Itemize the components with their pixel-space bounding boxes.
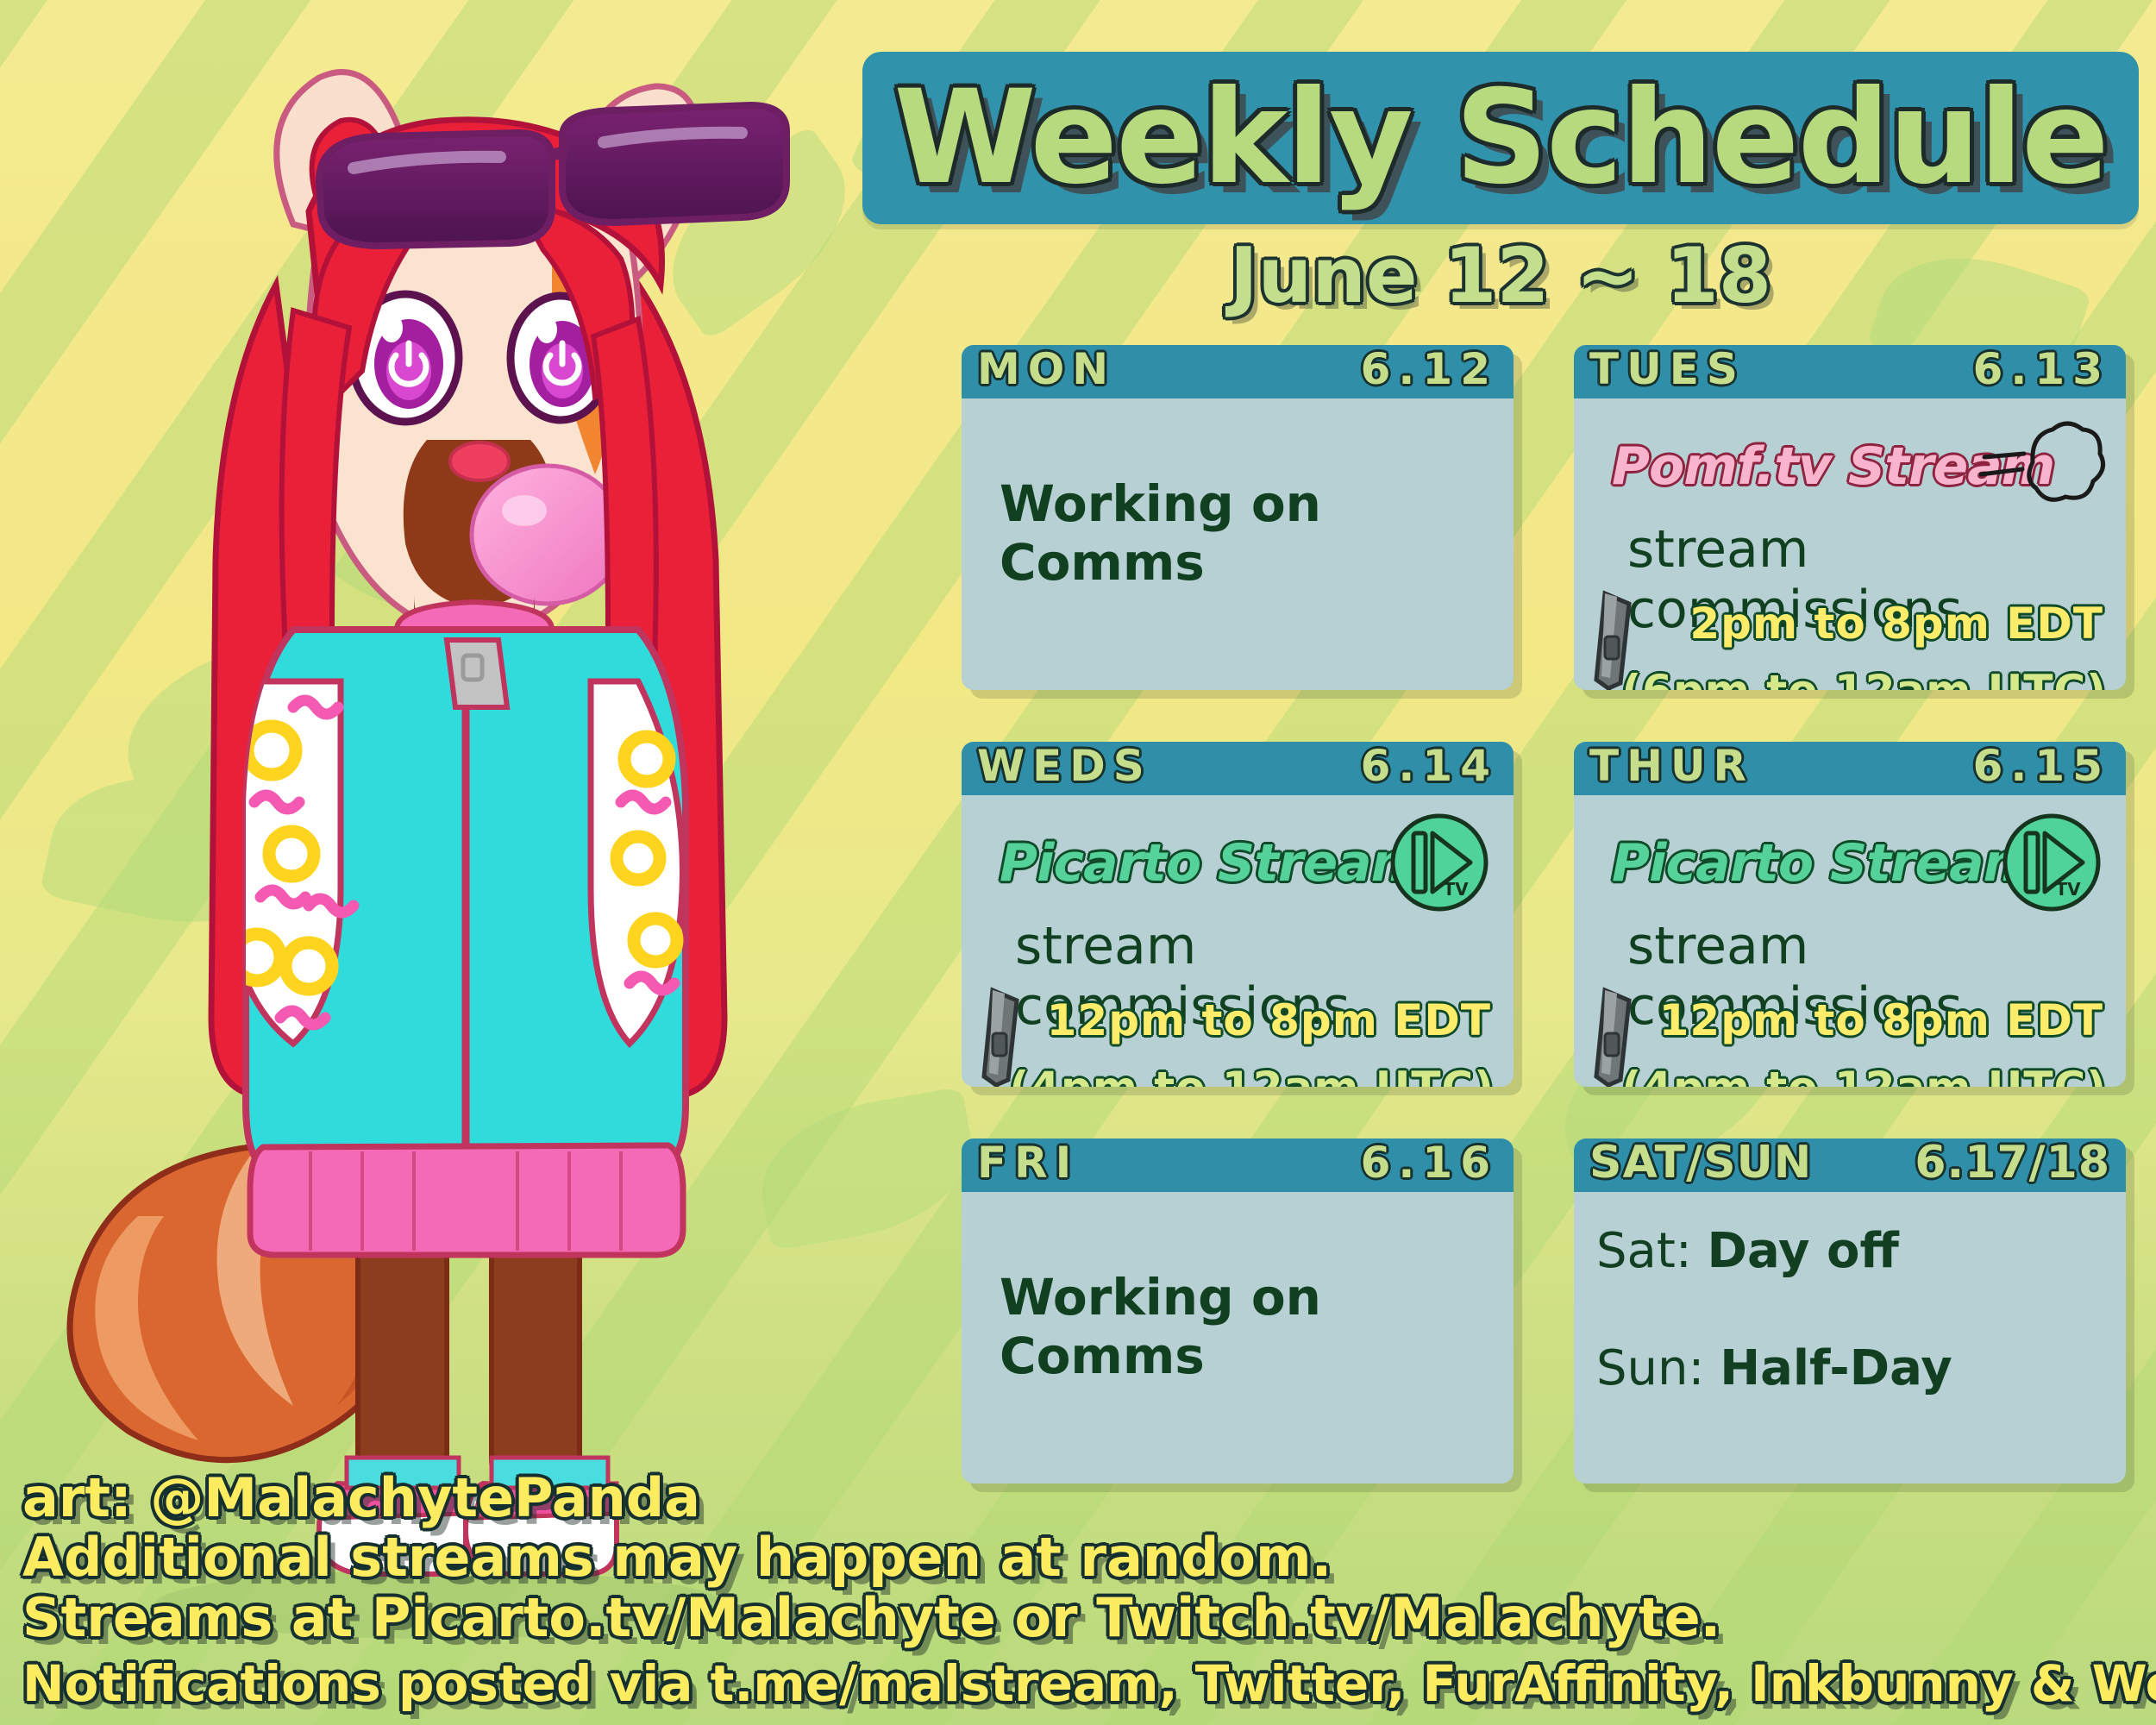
day-label-thur: THUR: [1589, 744, 1754, 787]
day-label-tues: TUES: [1589, 348, 1745, 391]
time-utc-weds: (4pm to 12am UTC): [1009, 1063, 1495, 1087]
random-streams-note: Additional streams may happen at random.: [22, 1530, 2144, 1584]
saturday-entry: Sat: Day off: [1596, 1223, 1899, 1279]
picarto-tv-logo-icon: TV: [1388, 811, 1491, 914]
date-label-fri: 6.16: [1361, 1141, 1498, 1184]
page-title: Weekly Schedule: [862, 52, 2139, 224]
date-label-weds: 6.14: [1361, 744, 1498, 787]
day-label-satsun: SAT/SUN: [1589, 1140, 1812, 1185]
activity-text-fri: Working on Comms: [1000, 1268, 1514, 1385]
title-banner: Weekly Schedule: [862, 52, 2139, 224]
art-credit: art: @MalachytePanda: [22, 1471, 2144, 1525]
time-edt-thur: 12pm to 8pm EDT: [1659, 995, 2103, 1045]
card-body-tues: Pomf.tv Stream stream commissions 2pm to…: [1574, 398, 2126, 690]
puff-cloud-icon: [1979, 412, 2109, 524]
card-header-thur: THUR 6.15: [1574, 742, 2126, 795]
card-body-fri: Working on Comms: [962, 1192, 1514, 1483]
card-body-thur: Picarto Stream TV stream commissions 12p…: [1574, 795, 2126, 1087]
time-utc-tues: (6pm to 12am UTC): [1621, 666, 2107, 690]
bubble-gum: [472, 466, 624, 604]
day-label-fri: FRI: [977, 1141, 1079, 1184]
schedule-poster: Weekly Schedule June 12 ~ 18 MON 6.12 Wo…: [0, 0, 2156, 1725]
time-utc-thur: (4pm to 12am UTC): [1621, 1063, 2107, 1087]
day-card-satsun[interactable]: SAT/SUN 6.17/18 Sat: Day off Sun: Half-D…: [1574, 1138, 2126, 1483]
card-header-weds: WEDS 6.14: [962, 742, 1514, 795]
time-edt-tues: 2pm to 8pm EDT: [1689, 599, 2103, 649]
character-illustration: [34, 26, 949, 1665]
card-body-mon: Working on Comms: [962, 398, 1514, 690]
picarto-logo-tv-text: TV: [1443, 879, 1469, 900]
day-card-weds[interactable]: WEDS 6.14 Picarto Stream TV stream commi…: [962, 742, 1514, 1087]
card-header-mon: MON 6.12: [962, 345, 1514, 398]
platform-label-thur[interactable]: Picarto Stream: [1612, 833, 2036, 894]
date-range-label: June 12 ~ 18: [862, 231, 2139, 320]
card-body-satsun: Sat: Day off Sun: Half-Day: [1574, 1192, 2126, 1483]
date-label-satsun: 6.17/18: [1915, 1140, 2110, 1185]
date-label-mon: 6.12: [1361, 348, 1498, 391]
schedule-grid: MON 6.12 Working on Comms TUES 6.13 Pomf…: [962, 345, 2126, 1509]
jacket: [225, 630, 686, 1255]
saturday-label: Sat:: [1596, 1223, 1708, 1279]
day-label-mon: MON: [977, 348, 1116, 391]
stream-links-note: Streams at Picarto.tv/Malachyte or Twitc…: [22, 1590, 2144, 1645]
card-header-fri: FRI 6.16: [962, 1138, 1514, 1192]
time-edt-weds: 12pm to 8pm EDT: [1047, 995, 1491, 1045]
day-card-thur[interactable]: THUR 6.15 Picarto Stream TV stream commi…: [1574, 742, 2126, 1087]
activity-text-mon: Working on Comms: [1000, 474, 1514, 592]
day-card-fri[interactable]: FRI 6.16 Working on Comms: [962, 1138, 1514, 1483]
day-card-mon[interactable]: MON 6.12 Working on Comms: [962, 345, 1514, 690]
sunday-label: Sun:: [1596, 1340, 1720, 1396]
card-body-weds: Picarto Stream TV stream commissions 12p…: [962, 795, 1514, 1087]
platform-label-weds[interactable]: Picarto Stream: [1000, 833, 1424, 894]
sunday-value: Half-Day: [1720, 1340, 1952, 1396]
card-header-tues: TUES 6.13: [1574, 345, 2126, 398]
picarto-tv-logo-icon: TV: [2000, 811, 2103, 914]
day-label-weds: WEDS: [977, 744, 1152, 787]
date-label-thur: 6.15: [1973, 744, 2110, 787]
sunday-entry: Sun: Half-Day: [1596, 1340, 1952, 1396]
picarto-logo-tv-text: TV: [2055, 879, 2081, 900]
day-card-tues[interactable]: TUES 6.13 Pomf.tv Stream stream commissi…: [1574, 345, 2126, 690]
saturday-value: Day off: [1708, 1223, 1899, 1279]
date-label-tues: 6.13: [1973, 348, 2110, 391]
footer: art: @MalachytePanda Additional streams …: [22, 1471, 2144, 1715]
card-header-satsun: SAT/SUN 6.17/18: [1574, 1138, 2126, 1192]
notifications-note: Notifications posted via t.me/malstream,…: [22, 1659, 2144, 1709]
